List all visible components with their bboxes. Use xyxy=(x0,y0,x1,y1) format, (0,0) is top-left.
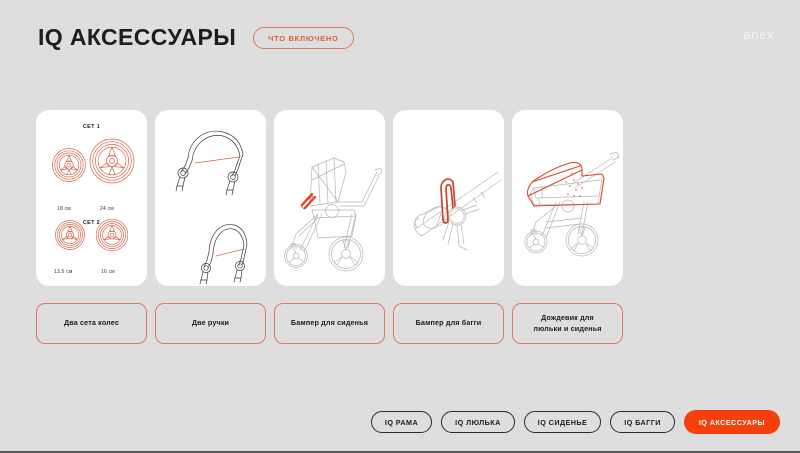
accessory-card-seat-bumper[interactable] xyxy=(274,110,385,286)
wheel-size-set2-large: 16 см xyxy=(101,269,115,275)
caption-rain-cover: Дождевик для люльки и сиденья xyxy=(512,303,623,344)
nav-item-iq-rama[interactable]: IQ РАМА xyxy=(371,411,432,433)
wheel-size-set2-small: 13.5 см xyxy=(54,269,72,275)
what-included-badge[interactable]: ЧТО ВКЛЮЧЕНО xyxy=(253,27,353,49)
nav-item-iq-aksessuary[interactable]: IQ АКСЕССУАРЫ xyxy=(684,410,780,434)
caption-list: Два сета колес Две ручки Бампер для сиде… xyxy=(36,303,623,344)
header: IQ АКСЕССУАРЫ ЧТО ВКЛЮЧЕНО xyxy=(38,26,354,49)
buggy-bumper-closeup-diagram-icon xyxy=(393,110,504,286)
caption-seat-bumper: Бампер для сиденья xyxy=(274,303,385,344)
wheel-size-set1-large: 24 см xyxy=(100,206,114,212)
accessory-card-rain-cover[interactable] xyxy=(512,110,623,286)
anex-logo: anex xyxy=(743,27,774,42)
stroller-seat-bumper-diagram-icon xyxy=(274,110,385,286)
caption-buggy-bumper: Бампер для багги xyxy=(393,303,504,344)
accessory-card-buggy-bumper[interactable] xyxy=(393,110,504,286)
page-title: IQ АКСЕССУАРЫ xyxy=(38,26,236,49)
nav-item-iq-baggi[interactable]: IQ БАГГИ xyxy=(610,411,675,433)
bottom-nav: IQ РАМА IQ ЛЮЛЬКА IQ СИДЕНЬЕ IQ БАГГИ IQ… xyxy=(371,410,780,434)
carrycot-rain-cover-diagram-icon xyxy=(512,110,623,286)
nav-item-iq-lyulka[interactable]: IQ ЛЮЛЬКА xyxy=(441,411,515,433)
accessory-card-handles[interactable] xyxy=(155,110,266,286)
caption-wheel-sets: Два сета колес xyxy=(36,303,147,344)
slide-root: IQ АКСЕССУАРЫ ЧТО ВКЛЮЧЕНО anex СЕТ 1 xyxy=(0,0,800,453)
accessory-card-wheel-sets[interactable]: СЕТ 1 xyxy=(36,110,147,286)
set-1-label: СЕТ 1 xyxy=(36,124,147,130)
accessory-card-list: СЕТ 1 xyxy=(36,110,623,286)
wheels-diagram-icon xyxy=(36,110,147,286)
wheel-size-set1-small: 18 см xyxy=(57,206,71,212)
two-handles-diagram-icon xyxy=(155,110,266,286)
caption-handles: Две ручки xyxy=(155,303,266,344)
nav-item-iq-sidenye[interactable]: IQ СИДЕНЬЕ xyxy=(524,411,602,433)
set-2-label: СЕТ 2 xyxy=(36,220,147,226)
